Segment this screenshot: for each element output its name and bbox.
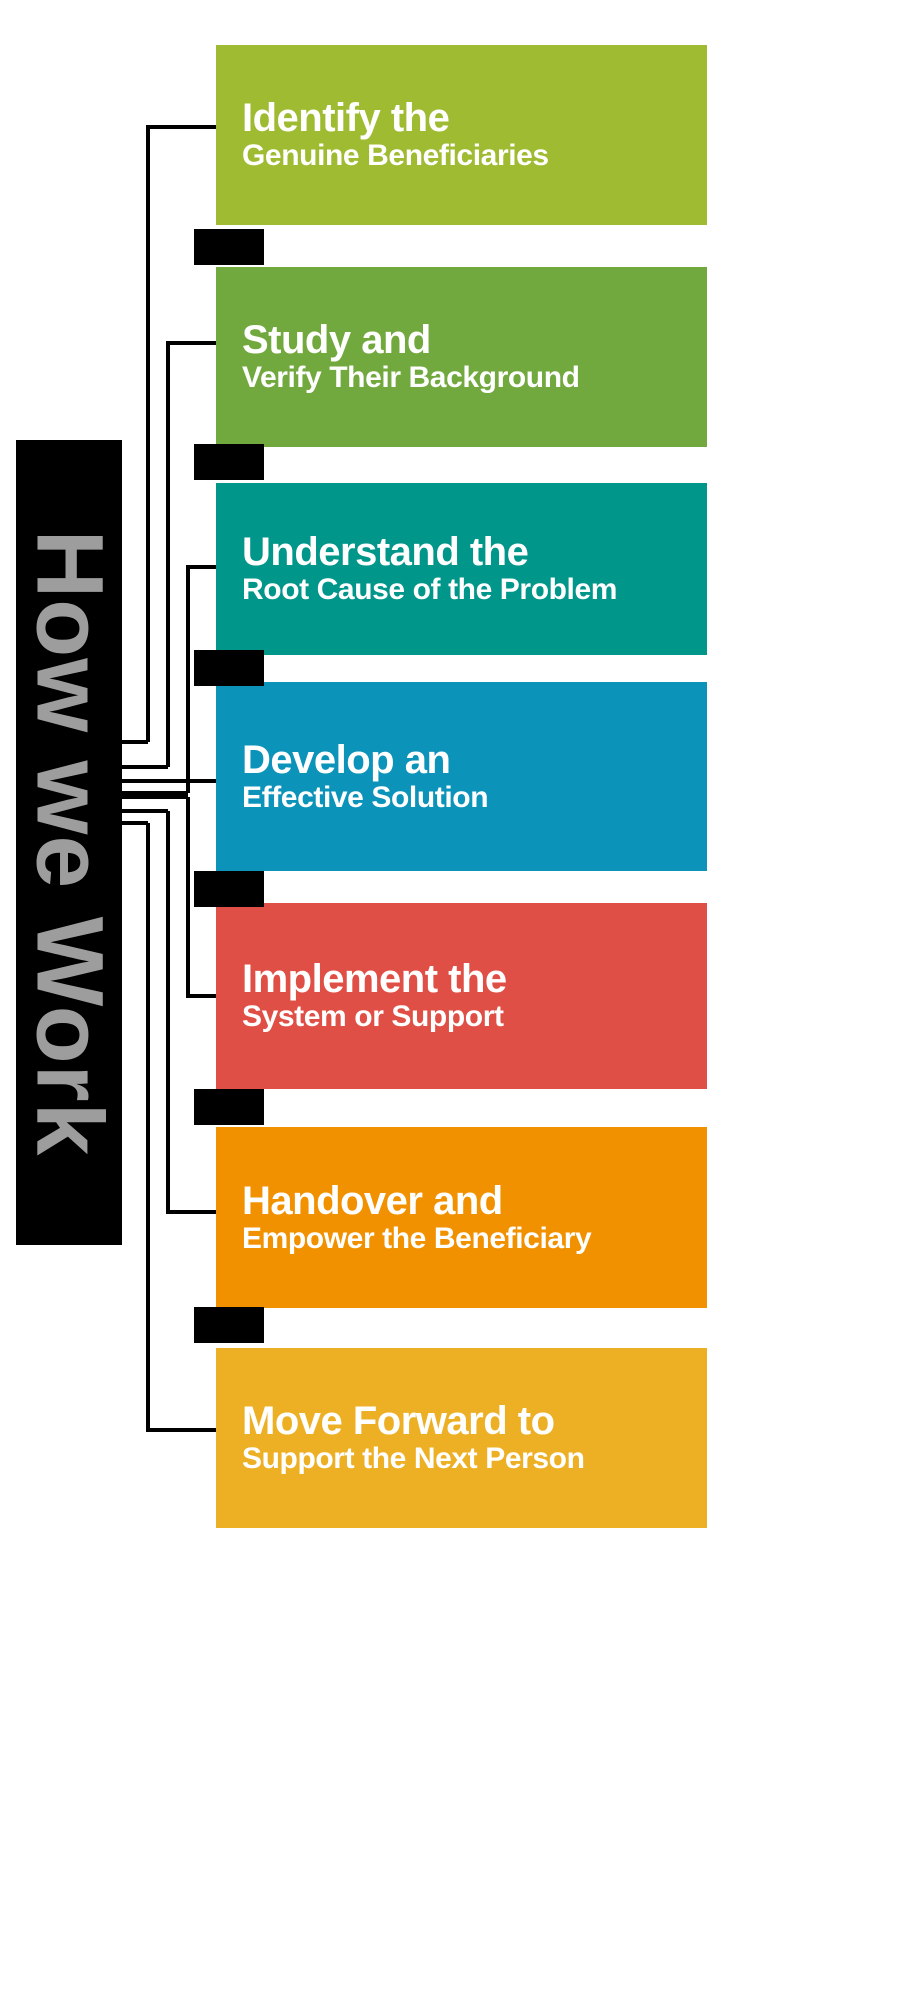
step-bar-6[interactable]: Handover and Empower the Beneficiary — [216, 1127, 707, 1308]
step-notch-1 — [194, 229, 264, 265]
step-title-1: Identify the — [242, 97, 699, 139]
step-bar-2[interactable]: Study and Verify Their Background — [216, 267, 707, 447]
step-title-5: Implement the — [242, 958, 699, 1000]
vertical-title-block: How we Work — [16, 440, 122, 1245]
step-notch-6 — [194, 1307, 264, 1343]
page-title: How we Work — [22, 529, 117, 1156]
step-title-4: Develop an — [242, 739, 699, 781]
step-notch-2 — [194, 444, 264, 480]
step-subtitle-6: Empower the Beneficiary — [242, 1222, 699, 1256]
step-title-6: Handover and — [242, 1180, 699, 1222]
step-title-7: Move Forward to — [242, 1400, 699, 1442]
step-subtitle-5: System or Support — [242, 1000, 699, 1034]
step-bar-1[interactable]: Identify the Genuine Beneficiaries — [216, 45, 707, 225]
connector-step-2 — [168, 343, 216, 767]
step-subtitle-2: Verify Their Background — [242, 361, 699, 395]
step-bar-4[interactable]: Develop an Effective Solution — [216, 682, 707, 871]
step-notch-3 — [194, 650, 264, 686]
step-title-3: Understand the — [242, 531, 699, 573]
step-subtitle-4: Effective Solution — [242, 781, 699, 815]
step-subtitle-3: Root Cause of the Problem — [242, 573, 699, 607]
step-bar-3[interactable]: Understand the Root Cause of the Problem — [216, 483, 707, 655]
step-bar-7[interactable]: Move Forward to Support the Next Person — [216, 1348, 707, 1528]
step-title-2: Study and — [242, 319, 699, 361]
infographic-canvas: How we Work Identify the Genuine Benefic… — [0, 0, 907, 2000]
step-notch-4 — [194, 871, 264, 907]
step-notch-5 — [194, 1089, 264, 1125]
step-bar-5[interactable]: Implement the System or Support — [216, 903, 707, 1089]
step-subtitle-7: Support the Next Person — [242, 1442, 699, 1476]
step-subtitle-1: Genuine Beneficiaries — [242, 139, 699, 173]
